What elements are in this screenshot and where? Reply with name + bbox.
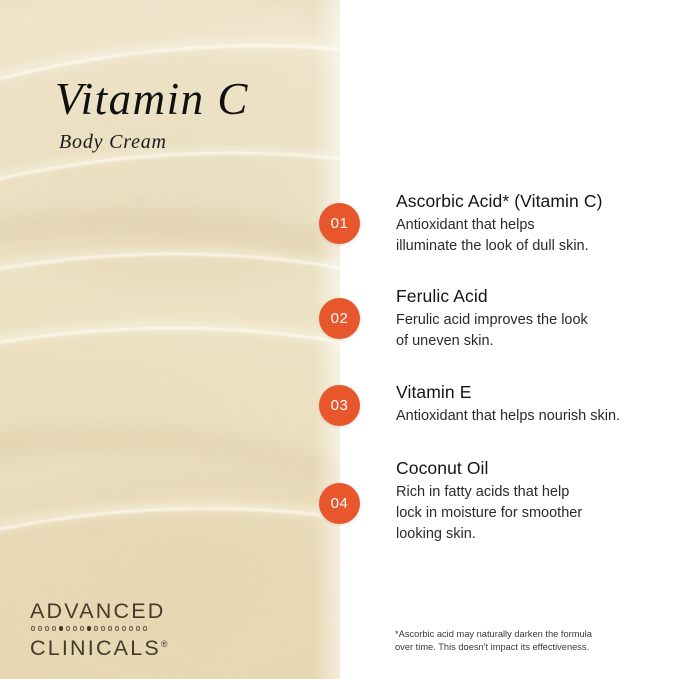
- logo-dot-divider: [31, 624, 200, 633]
- logo-dot: [80, 626, 84, 630]
- page-subtitle: Body Cream: [59, 130, 335, 154]
- ingredient-title: Ferulic Acid: [396, 285, 656, 307]
- ingredient-description: Antioxidant that helps nourish skin.: [396, 406, 656, 427]
- ingredient-description: Rich in fatty acids that help lock in mo…: [396, 482, 656, 545]
- ingredient-title: Vitamin E: [396, 381, 656, 403]
- logo-dot: [129, 626, 133, 630]
- logo-dot: [66, 626, 70, 630]
- registered-trademark-icon: ®: [161, 639, 168, 649]
- logo-dot: [52, 626, 56, 630]
- logo-dot: [136, 626, 140, 630]
- logo-line-advanced: ADVANCED: [30, 600, 200, 623]
- brand-logo: ADVANCED CLINICALS®: [30, 600, 200, 660]
- logo-dot: [94, 626, 98, 630]
- logo-dot-filled: [87, 626, 91, 630]
- ingredient-badge-01: 01: [319, 203, 360, 244]
- logo-dot: [143, 626, 147, 630]
- page-title: Vitamin C: [55, 74, 335, 124]
- ingredient-title: Ascorbic Acid* (Vitamin C): [396, 190, 656, 212]
- logo-dot: [38, 626, 42, 630]
- logo-dot: [31, 626, 35, 630]
- logo-clinicals-text: CLINICALS: [30, 636, 161, 660]
- ingredient-text-02: Ferulic Acid Ferulic acid improves the l…: [396, 285, 656, 352]
- ingredient-description: Ferulic acid improves the look of uneven…: [396, 310, 656, 352]
- logo-dot: [45, 626, 49, 630]
- logo-dot: [101, 626, 105, 630]
- ingredient-title: Coconut Oil: [396, 457, 656, 479]
- product-infographic: ADVANCED CLINICALS® Vitamin C Body Cream: [0, 0, 679, 679]
- footnote-disclaimer: *Ascorbic acid may naturally darken the …: [395, 628, 640, 653]
- logo-dot-filled: [59, 626, 63, 630]
- ingredient-text-04: Coconut Oil Rich in fatty acids that hel…: [396, 457, 656, 545]
- ingredient-badge-04: 04: [319, 483, 360, 524]
- ingredient-badge-03: 03: [319, 385, 360, 426]
- logo-line-clinicals: CLINICALS®: [30, 633, 200, 660]
- logo-dot: [115, 626, 119, 630]
- ingredient-text-03: Vitamin E Antioxidant that helps nourish…: [396, 381, 656, 427]
- ingredient-description: Antioxidant that helps illuminate the lo…: [396, 215, 656, 257]
- ingredient-badge-02: 02: [319, 298, 360, 339]
- logo-dot: [73, 626, 77, 630]
- logo-dot: [122, 626, 126, 630]
- ingredient-text-01: Ascorbic Acid* (Vitamin C) Antioxidant t…: [396, 190, 656, 257]
- logo-dot: [108, 626, 112, 630]
- title-block: Vitamin C Body Cream: [55, 74, 335, 154]
